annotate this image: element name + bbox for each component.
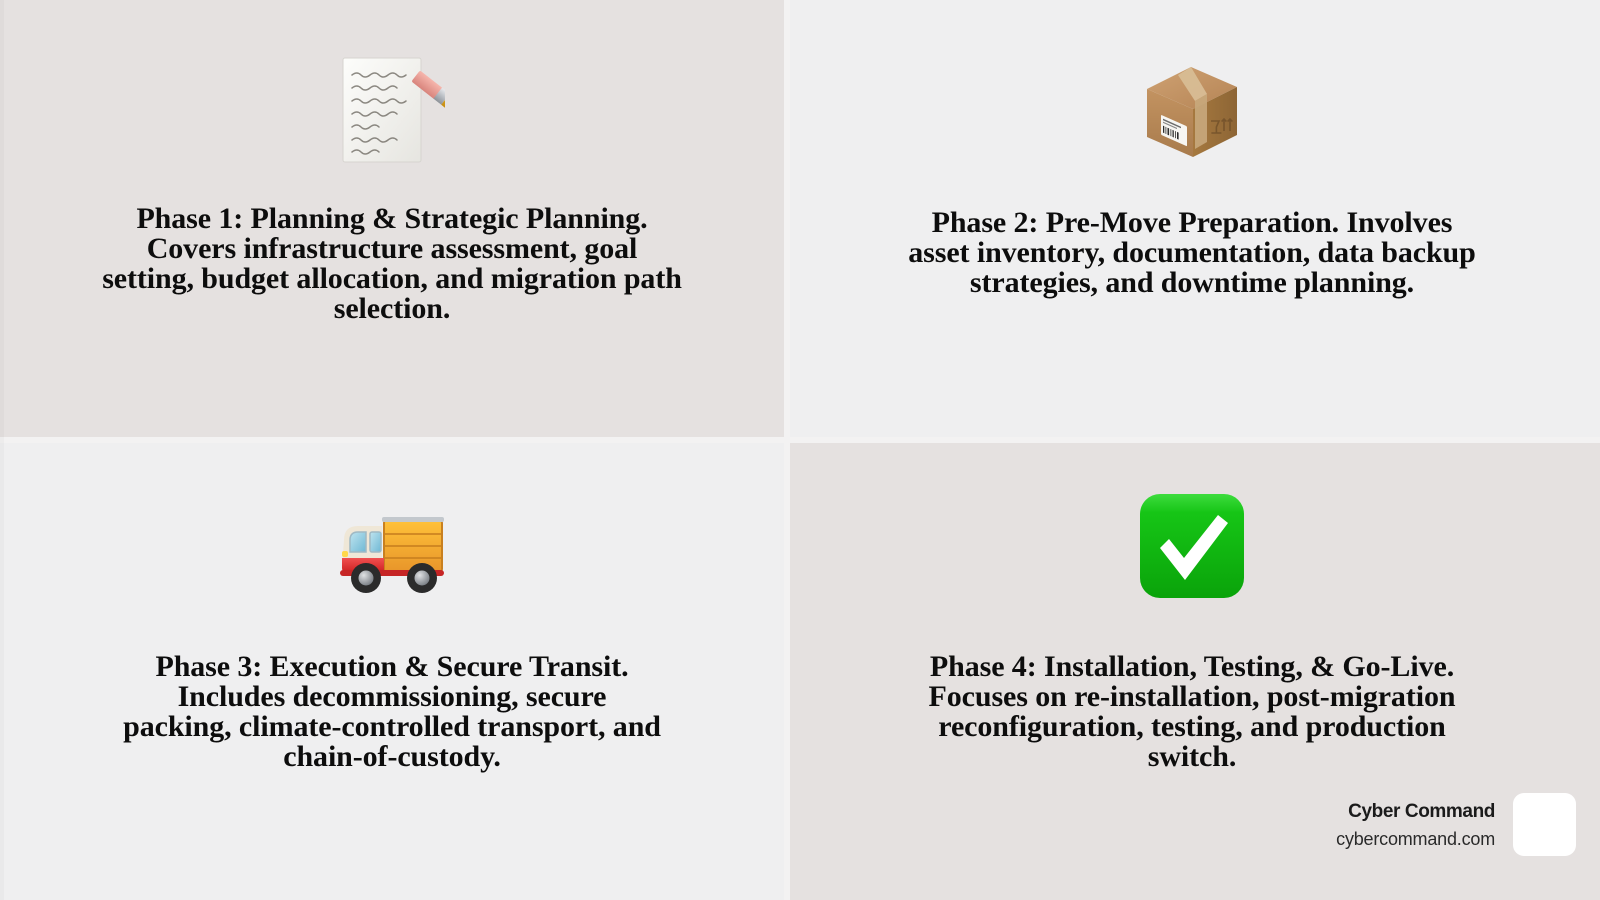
delivery-truck-emoji (332, 488, 452, 608)
brand-logo (1513, 793, 1576, 856)
horizontal-divider (0, 437, 1600, 443)
panel-caption: Phase 4: Installation, Testing, & Go-Liv… (907, 652, 1477, 772)
infographic-canvas: Phase 1: Planning & Strategic Planning. … (0, 0, 1600, 900)
panel-caption: Phase 2: Pre-Move Preparation. Involves … (907, 208, 1477, 298)
brand-text: Cyber Command cybercommand.com (1336, 802, 1495, 848)
panel-phase-3: Phase 3: Execution & Secure Transit. Inc… (0, 440, 784, 900)
green-check-mark-button-emoji (1132, 486, 1252, 606)
panel-caption: Phase 3: Execution & Secure Transit. Inc… (122, 652, 662, 772)
panel-phase-2: Phase 2: Pre-Move Preparation. Involves … (784, 0, 1600, 440)
branding: Cyber Command cybercommand.com (1336, 793, 1576, 856)
panel-caption: Phase 1: Planning & Strategic Planning. … (102, 204, 682, 324)
left-edge-shadow (0, 0, 4, 900)
vertical-divider (784, 0, 790, 900)
phase-grid: Phase 1: Planning & Strategic Planning. … (0, 0, 1600, 900)
package-box-emoji (1132, 52, 1252, 172)
brand-name: Cyber Command (1348, 802, 1495, 821)
brand-url: cybercommand.com (1336, 830, 1495, 848)
memo-pencil-note-emoji (332, 52, 452, 172)
panel-phase-1: Phase 1: Planning & Strategic Planning. … (0, 0, 784, 440)
